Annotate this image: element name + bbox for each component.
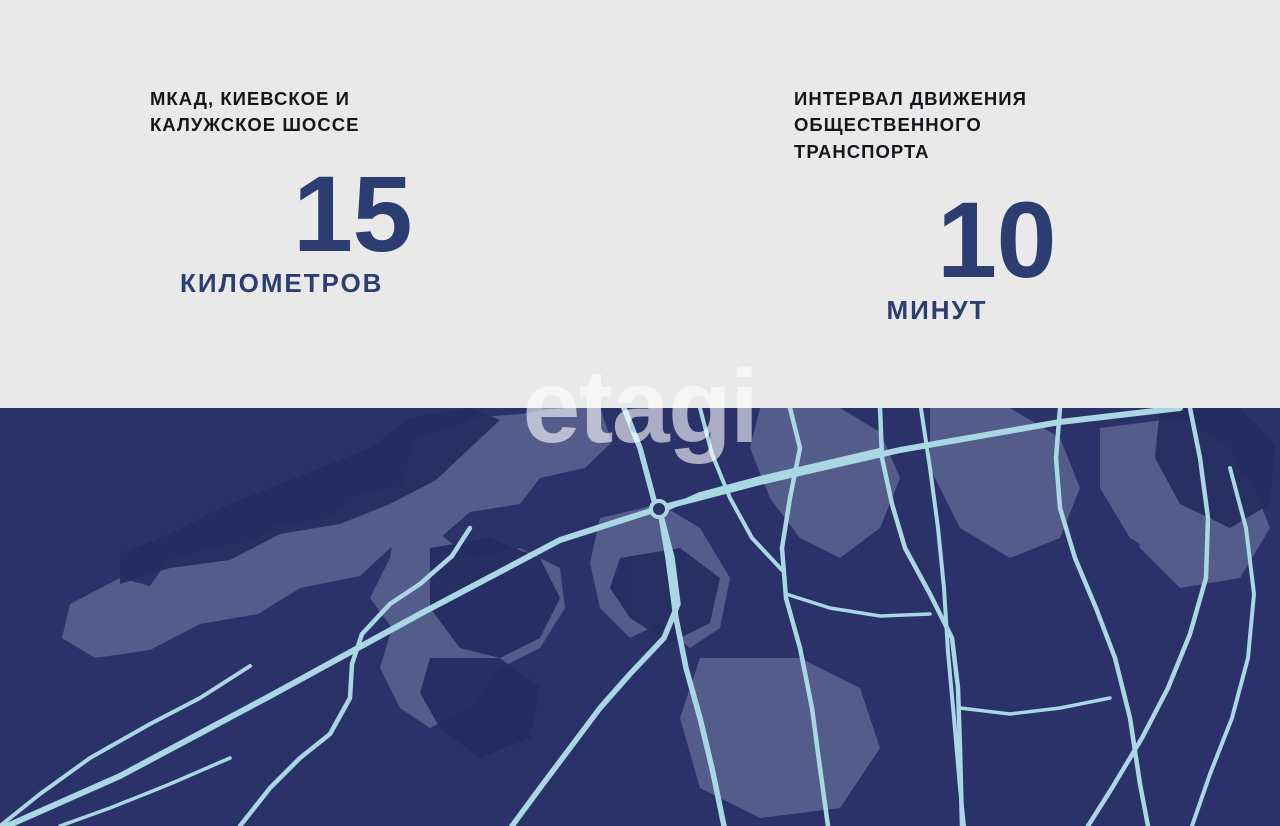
stats-panel: МКАД, КИЕВСКОЕ И КАЛУЖСКОЕ ШОССЕ 15 КИЛО… (0, 0, 1280, 408)
map-interchange-node (651, 501, 667, 517)
map-panel[interactable]: КИЕВСКОЕ ШОССЕ МКАД КАЛУЖСКОЕ ШОССЕ ДЕТА… (0, 408, 1280, 826)
stat-unit-distance: КИЛОМЕТРОВ (180, 268, 570, 299)
map-graphic (0, 408, 1280, 826)
stat-value-interval: 10 (794, 187, 1056, 293)
stat-block-interval: ИНТЕРВАЛ ДВИЖЕНИЯ ОБЩЕСТВЕННОГО ТРАНСПОР… (794, 86, 1214, 326)
stat-caption-distance: МКАД, КИЕВСКОЕ И КАЛУЖСКОЕ ШОССЕ (150, 86, 570, 139)
transport-infographic: МКАД, КИЕВСКОЕ И КАЛУЖСКОЕ ШОССЕ 15 КИЛО… (0, 0, 1280, 826)
stat-block-distance: МКАД, КИЕВСКОЕ И КАЛУЖСКОЕ ШОССЕ 15 КИЛО… (150, 86, 570, 299)
stat-value-distance: 15 (150, 161, 412, 267)
stat-caption-interval: ИНТЕРВАЛ ДВИЖЕНИЯ ОБЩЕСТВЕННОГО ТРАНСПОР… (794, 86, 1214, 165)
